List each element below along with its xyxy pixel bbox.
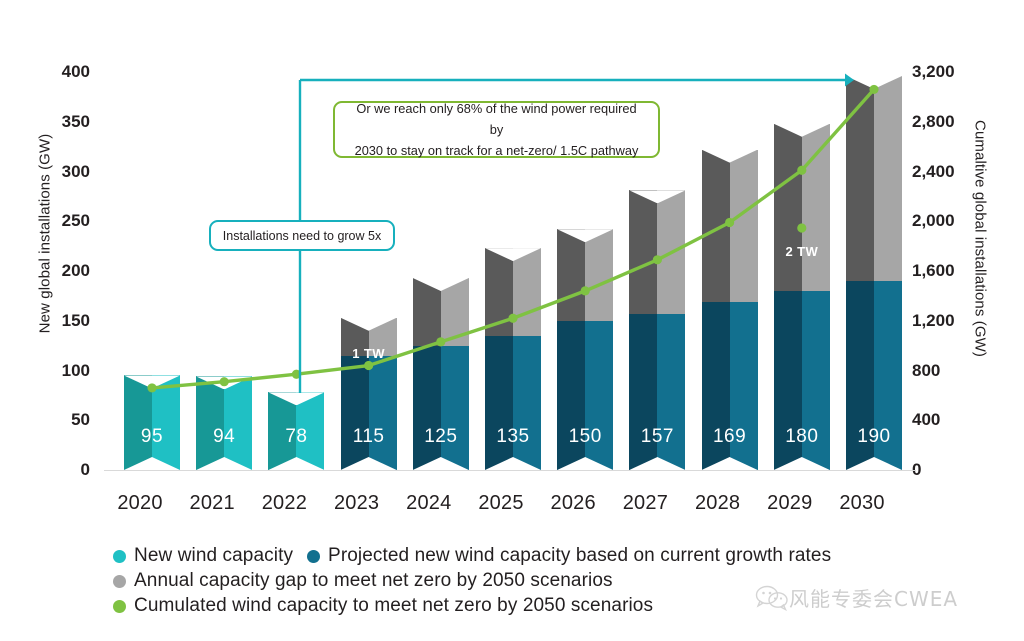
x-axis-label-2022: 2022 (244, 492, 324, 515)
y-tick-left-250: 250 (44, 212, 90, 229)
legend-swatch-icon (307, 550, 320, 563)
y-axis-title-right: Cumaltive global installations (GW) (972, 89, 989, 389)
y-tick-left-400: 400 (44, 63, 90, 80)
cumulative-line-point-2021[interactable] (220, 377, 229, 386)
cumulative-line-point-2027[interactable] (653, 255, 662, 264)
y-tick-left-300: 300 (44, 163, 90, 180)
cumulative-line-point-2024[interactable] (436, 337, 445, 346)
y-tick-left-50: 50 (44, 411, 90, 428)
y-axis-ticks-right: 04008001,2001,6002,0002,4002,8003,200 (912, 0, 964, 641)
cumulative-line-point-2029[interactable] (797, 166, 806, 175)
x-axis-label-2024: 2024 (389, 492, 469, 515)
x-axis-label-2028: 2028 (678, 492, 758, 515)
y-tick-left-100: 100 (44, 362, 90, 379)
y-tick-left-150: 150 (44, 312, 90, 329)
wechat-logo-icon (755, 585, 789, 611)
sixty-eight-callout-line1: Or we reach only 68% of the wind power r… (356, 101, 636, 137)
two-tw-marker-point (797, 223, 806, 232)
cumulative-line-point-2020[interactable] (147, 383, 156, 392)
legend-label: New wind capacity (134, 545, 293, 567)
cumulative-line-point-2025[interactable] (508, 314, 517, 323)
legend-item-annual-capacity-gap[interactable]: Annual capacity gap to meet net zero by … (113, 570, 613, 592)
y-tick-right-2400: 2,400 (912, 163, 964, 180)
x-axis-label-2020: 2020 (100, 492, 180, 515)
legend-swatch-icon (113, 550, 126, 563)
x-axis-label-2029: 2029 (750, 492, 830, 515)
legend-label: Projected new wind capacity based on cur… (328, 545, 831, 567)
legend-label: Annual capacity gap to meet net zero by … (134, 570, 613, 592)
y-tick-right-1600: 1,600 (912, 262, 964, 279)
y-tick-left-0: 0 (44, 461, 90, 478)
sixty-eight-callout-line2: 2030 to stay on track for a net-zero/ 1.… (355, 143, 639, 158)
x-axis-label-2021: 2021 (172, 492, 252, 515)
sixty-eight-percent-callout: Or we reach only 68% of the wind power r… (333, 101, 660, 158)
legend-swatch-icon (113, 575, 126, 588)
y-tick-right-0: 0 (912, 461, 964, 478)
x-axis-label-2026: 2026 (533, 492, 613, 515)
legend-swatch-icon (113, 600, 126, 613)
legend-row-1: New wind capacity Projected new wind cap… (113, 545, 903, 567)
cumulative-line-point-2030[interactable] (869, 85, 878, 94)
x-axis-label-2030: 2030 (822, 492, 902, 515)
y-tick-left-350: 350 (44, 113, 90, 130)
cumulative-line-point-2023[interactable] (364, 361, 373, 370)
x-axis-label-2023: 2023 (317, 492, 397, 515)
cumulative-line-point-2028[interactable] (725, 218, 734, 227)
legend-item-projected-new-wind-capacity[interactable]: Projected new wind capacity based on cur… (307, 545, 831, 567)
y-tick-right-400: 400 (912, 411, 964, 428)
cumulative-line-point-2022[interactable] (292, 370, 301, 379)
y-tick-right-2000: 2,000 (912, 212, 964, 229)
x-axis-label-2025: 2025 (461, 492, 541, 515)
watermark-text: 风能专委会CWEA (789, 583, 958, 612)
chart-canvas: New global installations (GW) Cumaltive … (0, 0, 1024, 641)
y-tick-left-200: 200 (44, 262, 90, 279)
x-axis-label-2027: 2027 (605, 492, 685, 515)
watermark: 风能专委会CWEA (755, 583, 958, 612)
grow-5x-callout-text: Installations need to grow 5x (223, 229, 381, 243)
legend-item-new-wind-capacity[interactable]: New wind capacity (113, 545, 293, 567)
legend-label: Cumulated wind capacity to meet net zero… (134, 595, 653, 617)
grow-5x-callout: Installations need to grow 5x (209, 220, 395, 251)
y-tick-right-1200: 1,200 (912, 312, 964, 329)
y-tick-right-800: 800 (912, 362, 964, 379)
legend-item-cumulated-wind-capacity[interactable]: Cumulated wind capacity to meet net zero… (113, 595, 653, 617)
y-axis-ticks-left: 050100150200250300350400 (44, 0, 90, 641)
y-tick-right-3200: 3,200 (912, 63, 964, 80)
cumulative-line-point-2026[interactable] (581, 286, 590, 295)
y-tick-right-2800: 2,800 (912, 113, 964, 130)
